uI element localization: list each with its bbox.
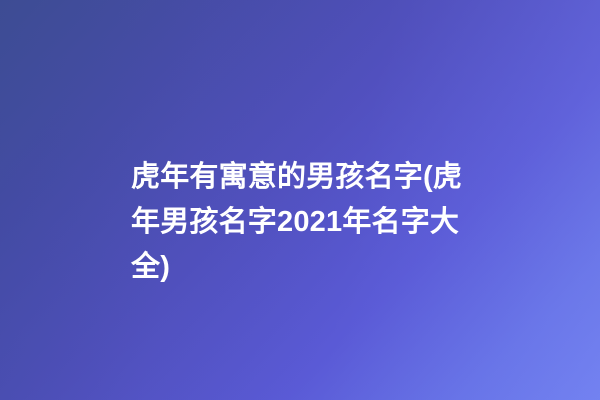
title-block: 虎年有寓意的男孩名字(虎年男孩名字2021年名字大全) [131,155,479,290]
title-banner: 虎年有寓意的男孩名字(虎年男孩名字2021年名字大全) [0,0,600,400]
page-title: 虎年有寓意的男孩名字(虎年男孩名字2021年名字大全) [131,155,479,290]
